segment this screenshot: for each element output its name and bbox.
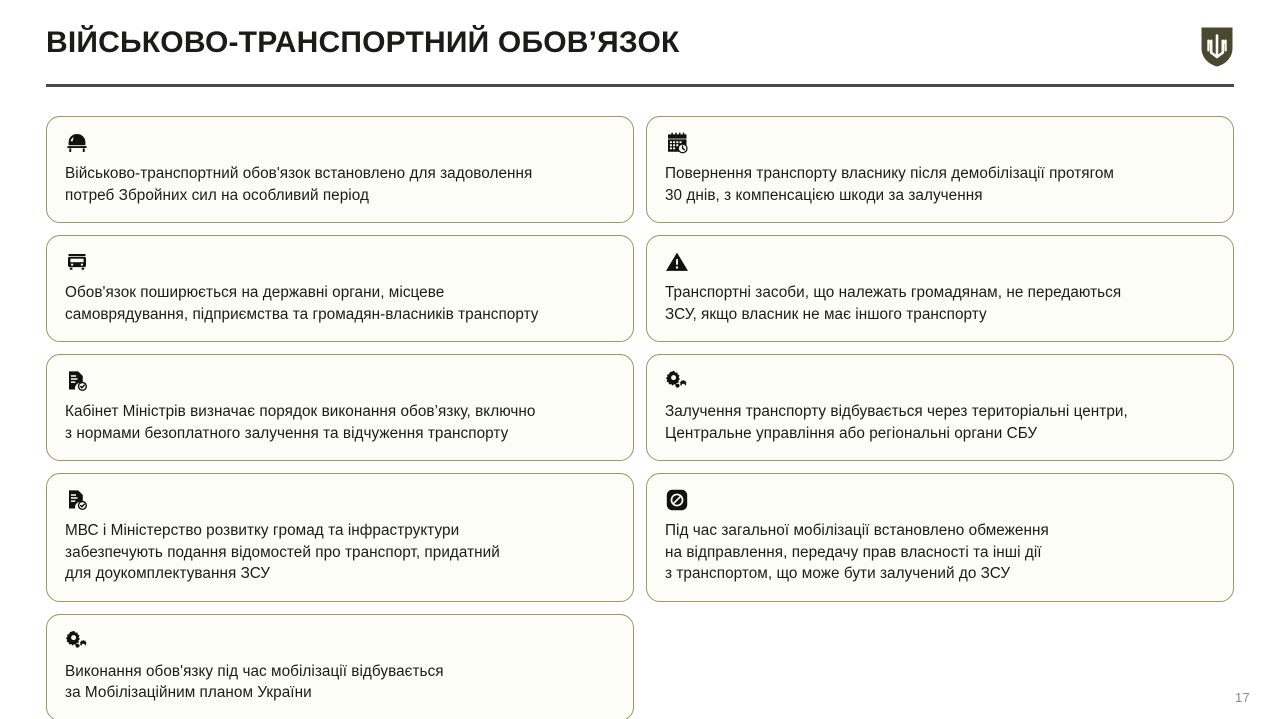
info-card: Залучення транспорту відбувається через …: [646, 354, 1234, 461]
calendar-clock-icon: [665, 131, 689, 155]
slide: ВІЙСЬКОВО-ТРАНСПОРТНИЙ ОБОВ’ЯЗОК: [0, 0, 1280, 719]
prohibited-icon: [665, 488, 689, 512]
info-card: Кабінет Міністрів визначає порядок викон…: [46, 354, 634, 461]
info-card: Обов'язок поширюється на державні органи…: [46, 235, 634, 342]
info-card-text: Під час загальної мобілізації встановлен…: [665, 520, 1215, 585]
warning-triangle-icon: [665, 250, 689, 274]
document-check-icon: [65, 369, 89, 393]
ukraine-armed-forces-trident-shield-icon: [1200, 26, 1234, 68]
content-grid: Військово-транспортний обов'язок встанов…: [46, 116, 1234, 719]
info-card-text: Транспортні засоби, що належать громадян…: [665, 282, 1215, 325]
info-card: Військово-транспортний обов'язок встанов…: [46, 116, 634, 223]
info-card-text: Обов'язок поширюється на державні органи…: [65, 282, 615, 325]
info-card: Повернення транспорту власнику після дем…: [646, 116, 1234, 223]
info-card: Виконання обов'язку під час мобілізації …: [46, 614, 634, 719]
gears-icon: [65, 629, 89, 653]
info-card-text: Залучення транспорту відбувається через …: [665, 401, 1215, 444]
left-column: Військово-транспортний обов'язок встанов…: [46, 116, 634, 719]
slide-header: ВІЙСЬКОВО-ТРАНСПОРТНИЙ ОБОВ’ЯЗОК: [46, 24, 1234, 88]
title-divider: [46, 84, 1234, 87]
info-card-text: Військово-транспортний обов'язок встанов…: [65, 163, 615, 206]
page-number: 17: [1235, 690, 1250, 705]
gears-icon: [665, 369, 689, 393]
bus-icon: [65, 250, 89, 274]
info-card-text: МВС і Міністерство розвитку громад та ін…: [65, 520, 615, 585]
document-check-icon: [65, 488, 89, 512]
info-card-text: Кабінет Міністрів визначає порядок викон…: [65, 401, 615, 444]
info-card: Під час загальної мобілізації встановлен…: [646, 473, 1234, 602]
info-card: Транспортні засоби, що належать громадян…: [646, 235, 1234, 342]
info-card: МВС і Міністерство розвитку громад та ін…: [46, 473, 634, 602]
info-card-text: Виконання обов'язку під час мобілізації …: [65, 661, 615, 704]
right-column: Повернення транспорту власнику після дем…: [646, 116, 1234, 719]
page-title: ВІЙСЬКОВО-ТРАНСПОРТНИЙ ОБОВ’ЯЗОК: [46, 24, 1234, 62]
helmet-icon: [65, 131, 89, 155]
info-card-text: Повернення транспорту власнику після дем…: [665, 163, 1215, 206]
